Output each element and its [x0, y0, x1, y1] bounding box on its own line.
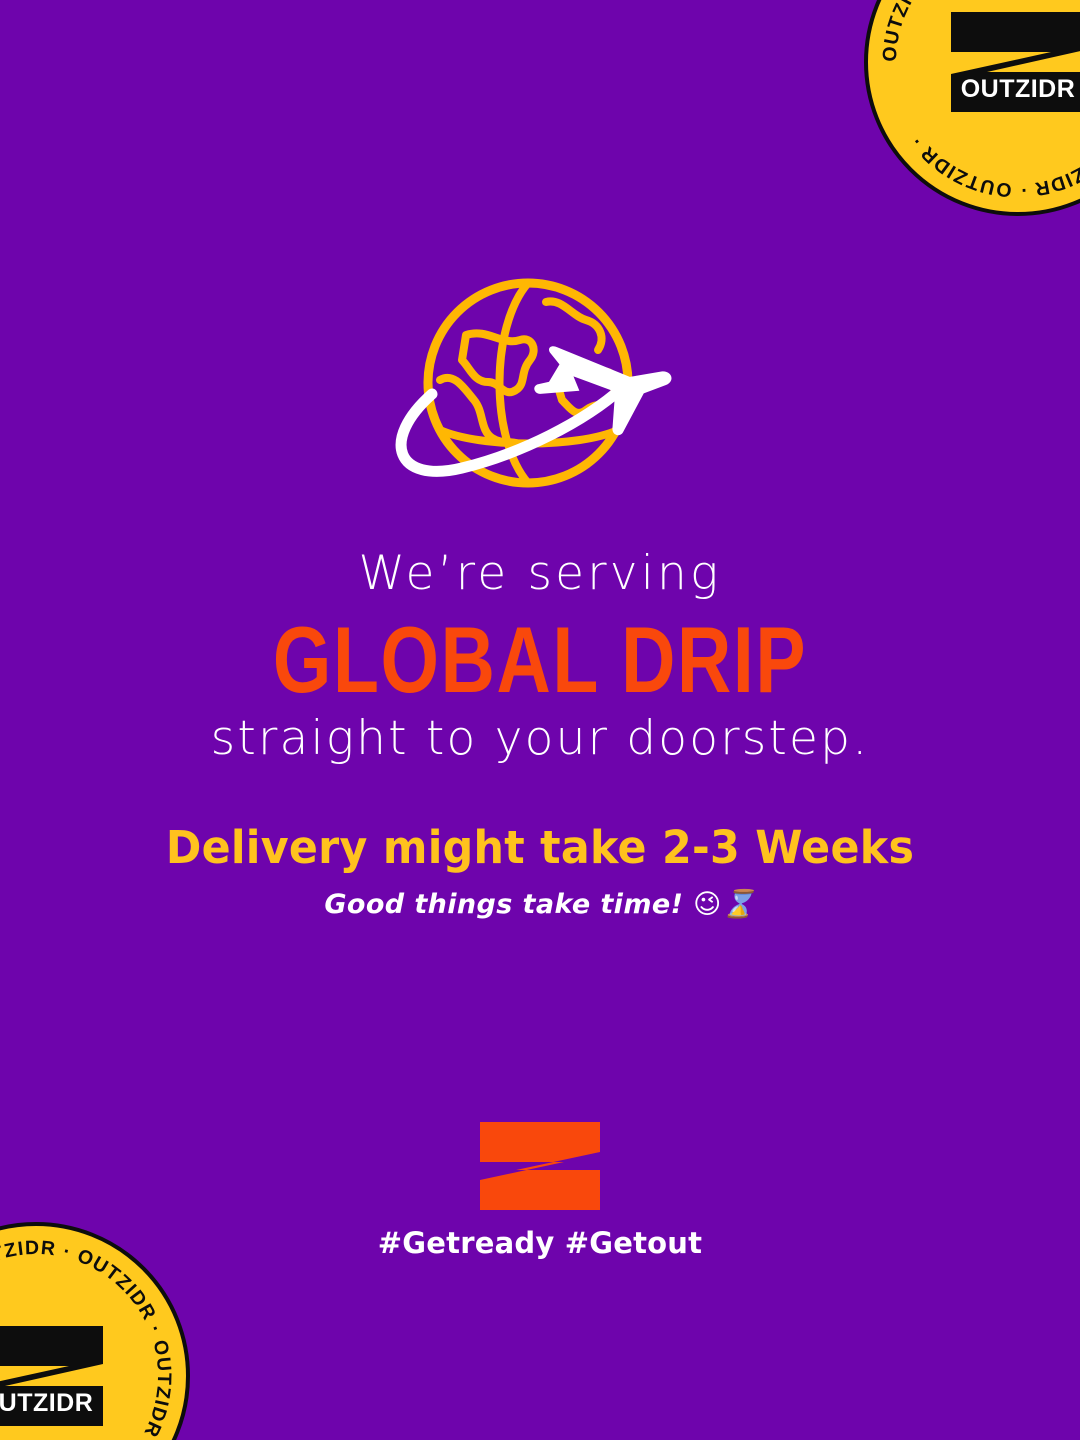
sticker-wordmark: OUTZIDR: [961, 75, 1076, 103]
sticker-wordmark: OUTZIDR: [0, 1389, 93, 1417]
delivery-notice-block: Delivery might take 2-3 Weeks Good thing…: [0, 822, 1080, 920]
promo-poster: OUTZIDR · OUTZIDR · OUTZIDR · OUTZIDR · …: [0, 0, 1080, 1440]
headline-line-1: We’re serving: [0, 548, 1080, 601]
headline-main: GLOBAL DRIP: [108, 613, 972, 707]
headline-line-3: straight to your doorstep.: [0, 713, 1080, 766]
delivery-notice: Delivery might take 2-3 Weeks: [27, 822, 1053, 874]
sticker-core-logo: OUTZIDR: [943, 6, 1080, 118]
headline-block: We’re serving GLOBAL DRIP straight to yo…: [0, 548, 1080, 765]
outzidr-z-logo: [0, 1122, 1080, 1210]
sticker-core-logo: OUTZIDR: [0, 1320, 111, 1432]
outzidr-sticker-bottom-left: OUTZIDR · OUTZIDR · OUTZIDR · OUTZIDR · …: [0, 1222, 190, 1440]
globe-airplane-illustration: [0, 272, 1080, 504]
outzidr-sticker-top-right: OUTZIDR · OUTZIDR · OUTZIDR · OUTZIDR · …: [864, 0, 1080, 216]
delivery-tagline: Good things take time! 😉⌛: [0, 888, 1080, 920]
